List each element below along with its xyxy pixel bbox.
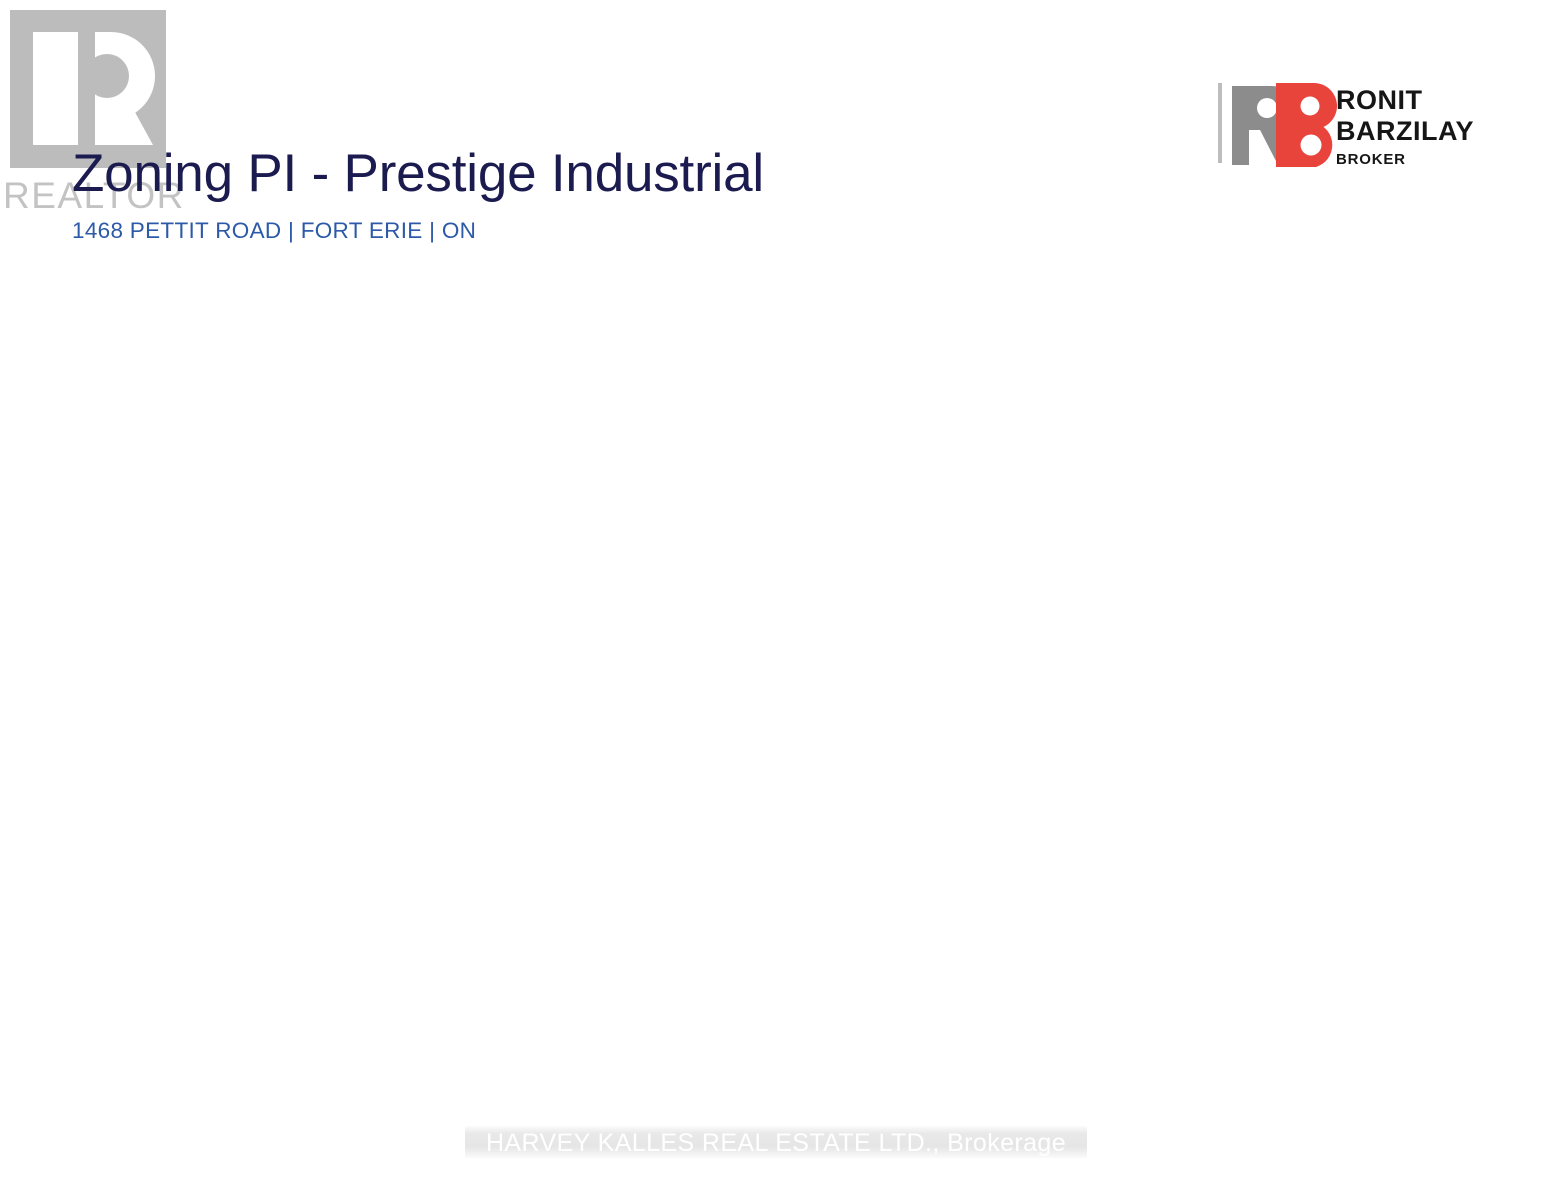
document-page: REALTOR Zoning PI - Prestige Industrial … [0,0,1553,1200]
brand-line-barzilay: BARZILAY [1336,116,1474,146]
page-title: Zoning PI - Prestige Industrial [72,143,972,205]
ronit-barzilay-logo-icon: RONIT BARZILAY BROKER [1214,78,1504,173]
brand-line-broker: BROKER [1336,151,1406,168]
brand-line-ronit: RONIT [1336,85,1423,115]
title-block: Zoning PI - Prestige Industrial 1468 PET… [72,143,972,245]
brokerage-footer-band: HARVEY KALLES REAL ESTATE LTD., Brokerag… [465,1126,1087,1159]
brand-logo: RONIT BARZILAY BROKER [1214,78,1504,173]
property-address: 1468 PETTIT ROAD | FORT ERIE | ON [72,217,972,245]
brokerage-name: HARVEY KALLES REAL ESTATE LTD., Brokerag… [486,1128,1066,1158]
